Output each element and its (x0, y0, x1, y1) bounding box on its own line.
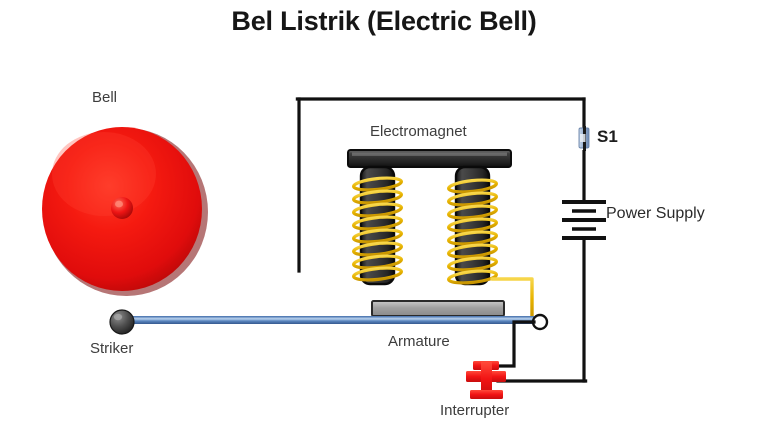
bell-center-nub (111, 197, 133, 219)
striker-ball (110, 310, 134, 334)
diagram-canvas: Bel Listrik (Electric Bell) (0, 0, 768, 426)
armature-assembly (372, 301, 504, 316)
label-electromagnet: Electromagnet (370, 123, 467, 140)
power-supply-symbol (562, 202, 606, 238)
interrupter-bottom-bar (470, 390, 503, 399)
label-interrupter: Interrupter (440, 402, 509, 419)
bell-assembly (42, 127, 208, 296)
label-armature: Armature (388, 333, 450, 350)
bell-nub-highlight (115, 201, 123, 208)
striker-ball-highlight (114, 314, 122, 320)
electromagnet-assembly (299, 150, 532, 318)
label-bell: Bell (92, 89, 117, 106)
armature-bar (372, 301, 504, 316)
striker-rod (122, 316, 534, 324)
electromagnet-yoke-highlight (352, 153, 507, 156)
circuit-wire-contact-to-interrupter (498, 322, 534, 366)
switch-s1 (579, 126, 589, 151)
label-power-supply: Power Supply (606, 205, 705, 223)
bell-rim-highlight (52, 132, 156, 216)
circuit-wire-return (498, 238, 586, 381)
label-striker: Striker (90, 340, 133, 357)
wire-contact-branch (498, 322, 534, 366)
switch-notch (580, 134, 586, 142)
label-switch-s1: S1 (597, 127, 618, 147)
